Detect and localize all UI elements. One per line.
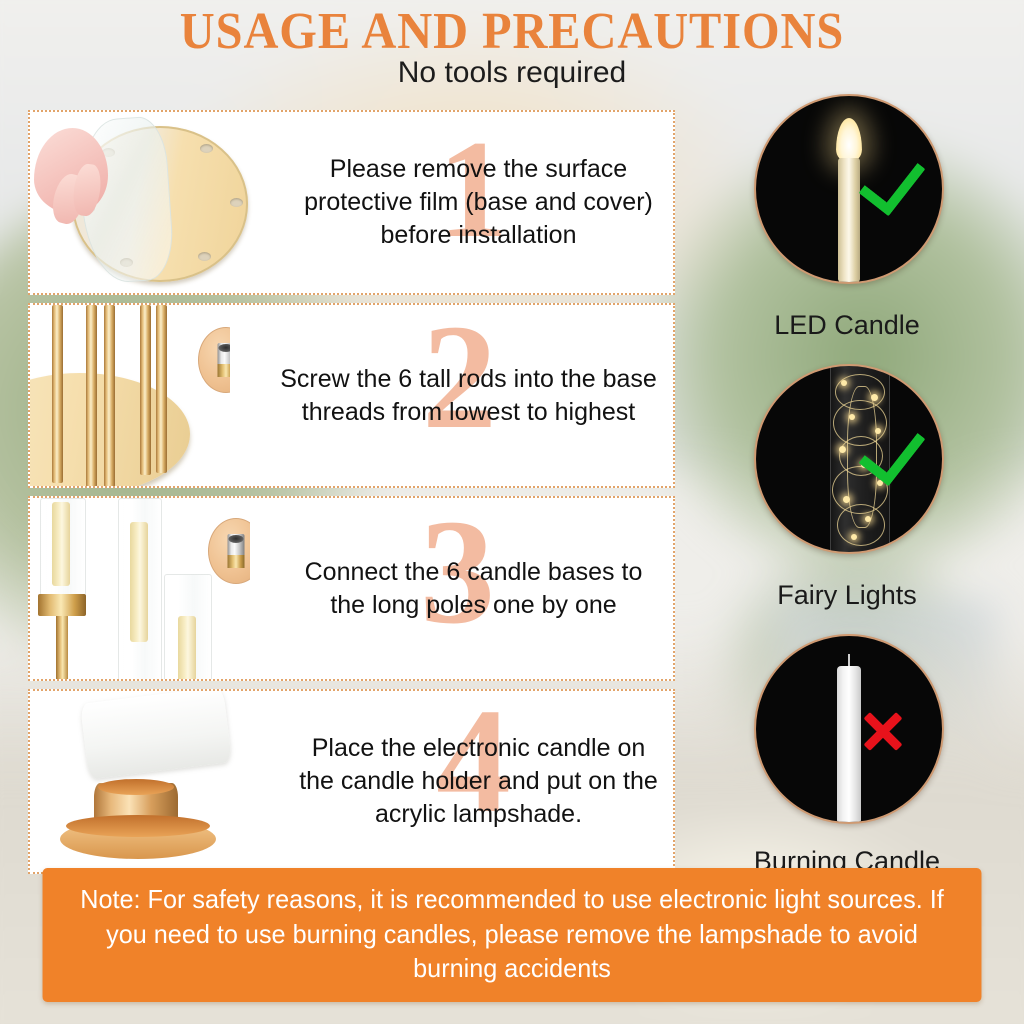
screw-hole	[198, 252, 211, 261]
gold-rod	[52, 305, 63, 483]
fairy-light-dot	[865, 516, 871, 522]
page-title: USAGE AND PRECAUTIONS	[36, 2, 988, 61]
fairy-light-dot	[841, 380, 847, 386]
candle-wax	[52, 502, 70, 586]
gold-rod	[140, 305, 151, 475]
gold-rod	[86, 305, 97, 486]
candle-wax	[178, 616, 196, 679]
step-4-photo	[30, 691, 260, 872]
light-source-led-candle	[754, 94, 944, 284]
step-2-body: 2 Screw the 6 tall rods into the base th…	[260, 305, 675, 486]
step-4-text: Place the electronic candle on the candl…	[280, 732, 675, 831]
screw-thread	[228, 555, 245, 568]
light-source-label-led: LED Candle	[702, 310, 992, 341]
fairy-light-dot	[843, 496, 850, 503]
candle-cup-opening	[98, 779, 174, 795]
screw-connector-inset	[198, 327, 230, 393]
flame-icon	[836, 118, 862, 162]
screw-thread	[218, 364, 231, 377]
screw-hole	[230, 198, 243, 207]
screw-icon	[218, 343, 231, 377]
step-3-text: Connect the 6 candle bases to the long p…	[270, 556, 675, 622]
safety-note-banner: Note: For safety reasons, it is recommen…	[43, 868, 982, 1002]
step-4-body: 4 Place the electronic candle on the can…	[280, 691, 675, 872]
step-card-4: 4 Place the electronic candle on the can…	[28, 689, 675, 874]
screw-connector-inset	[208, 518, 250, 584]
light-source-label-fairy: Fairy Lights	[702, 580, 992, 611]
gold-stem	[56, 616, 68, 679]
fairy-light-dot	[871, 394, 878, 401]
step-2-photo	[30, 305, 230, 486]
light-source-fairy-lights	[754, 364, 944, 554]
light-source-burning-candle	[754, 634, 944, 824]
step-1-photo	[30, 112, 280, 293]
page-subtitle: No tools required	[0, 56, 1024, 90]
burning-candle-body	[837, 666, 861, 822]
step-card-2: 2 Screw the 6 tall rods into the base th…	[28, 303, 675, 488]
step-2-text: Screw the 6 tall rods into the base thre…	[260, 363, 675, 429]
step-3-photo	[30, 498, 250, 679]
check-icon	[859, 146, 926, 217]
candle-wax	[130, 522, 148, 642]
acrylic-lampshade	[80, 691, 232, 779]
fairy-light-dot	[875, 428, 881, 434]
step-1-body: 1 Please remove the surface protective f…	[280, 112, 675, 293]
fairy-light-dot	[839, 446, 846, 453]
step-1-text: Please remove the surface protective fil…	[280, 153, 675, 252]
gold-rod	[104, 305, 115, 486]
gold-collar	[38, 594, 86, 616]
gold-rod	[156, 305, 167, 473]
screw-socket	[229, 535, 244, 543]
holder-plate-opening	[66, 815, 210, 837]
screw-hole	[200, 144, 213, 153]
led-candle-body	[838, 158, 860, 282]
fairy-light-dot	[851, 534, 857, 540]
step-3-body: 3 Connect the 6 candle bases to the long…	[270, 498, 675, 679]
step-card-3: 3 Connect the 6 candle bases to the long…	[28, 496, 675, 681]
cross-icon	[860, 708, 906, 754]
screw-icon	[228, 534, 245, 568]
screw-socket	[219, 344, 231, 352]
step-card-1: 1 Please remove the surface protective f…	[28, 110, 675, 295]
fairy-light-dot	[849, 414, 855, 420]
